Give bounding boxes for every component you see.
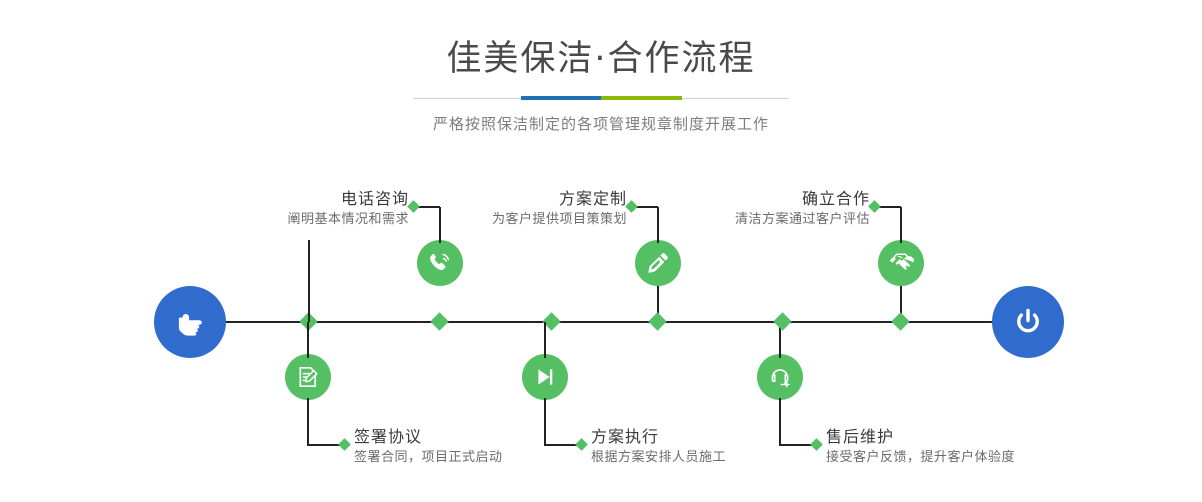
timeline-start-node[interactable]	[154, 286, 226, 358]
document-pencil-icon	[295, 364, 321, 390]
axis-marker-5	[891, 312, 909, 330]
play-forward-icon	[532, 364, 558, 390]
step-label-6: 售后维护 接受客户反馈，提升客户体验度	[826, 426, 1015, 468]
step-desc-2: 签署合同，项目正式启动	[354, 448, 503, 468]
step-title-5: 确立合作	[630, 188, 870, 210]
step-title-1: 电话咨询	[170, 188, 409, 210]
connector-stem-2b	[307, 398, 309, 445]
step-node-3[interactable]	[635, 240, 681, 286]
step-title-4: 方案执行	[591, 426, 726, 448]
flow-diagram-page: 佳美保洁·合作流程 严格按照保洁制定的各项管理规章制度开展工作	[0, 0, 1202, 502]
connector-tip-5	[868, 200, 881, 213]
connector-stem-4b	[544, 398, 546, 445]
axis-marker-1b	[430, 312, 448, 330]
step-node-4[interactable]	[522, 354, 568, 400]
step-title-3: 方案定制	[390, 188, 627, 210]
step-title-6: 售后维护	[826, 426, 1015, 448]
axis-marker-6	[773, 312, 791, 330]
step-desc-3: 为客户提供项目策策划	[390, 210, 627, 230]
connector-stem-4	[544, 322, 546, 358]
process-timeline: 电话咨询 阐明基本情况和需求 方案定制 为客户提供项目策策划	[0, 0, 1202, 502]
step-label-1: 电话咨询 阐明基本情况和需求	[170, 188, 409, 230]
step-label-3: 方案定制 为客户提供项目策策划	[390, 188, 627, 230]
timeline-end-node[interactable]	[992, 286, 1064, 358]
step-desc-6: 接受客户反馈，提升客户体验度	[826, 448, 1015, 468]
step-desc-5: 清洁方案通过客户评估	[630, 210, 870, 230]
pencil-ruler-icon	[645, 250, 671, 276]
step-label-2: 签署协议 签署合同，项目正式启动	[354, 426, 503, 468]
step-node-2[interactable]	[285, 354, 331, 400]
connector-tip-6	[810, 438, 823, 451]
headset-add-icon	[767, 364, 793, 390]
power-icon	[1008, 302, 1048, 342]
step-label-4: 方案执行 根据方案安排人员施工	[591, 426, 726, 468]
pointing-hand-icon	[170, 302, 210, 342]
connector-tip-2	[338, 438, 351, 451]
axis-marker-3	[648, 312, 666, 330]
connector-stem-6b	[779, 398, 781, 445]
connector-stem-2	[307, 322, 309, 358]
connector-stem-1	[308, 240, 310, 322]
connector-tip-4	[575, 438, 588, 451]
step-node-1[interactable]	[417, 240, 463, 286]
handshake-icon	[888, 250, 914, 276]
step-node-5[interactable]	[878, 240, 924, 286]
connector-stem-5	[900, 207, 902, 243]
phone-call-icon	[427, 250, 453, 276]
step-node-6[interactable]	[757, 354, 803, 400]
step-desc-1: 阐明基本情况和需求	[170, 210, 409, 230]
step-title-2: 签署协议	[354, 426, 503, 448]
step-label-5: 确立合作 清洁方案通过客户评估	[630, 188, 870, 230]
step-desc-4: 根据方案安排人员施工	[591, 448, 726, 468]
